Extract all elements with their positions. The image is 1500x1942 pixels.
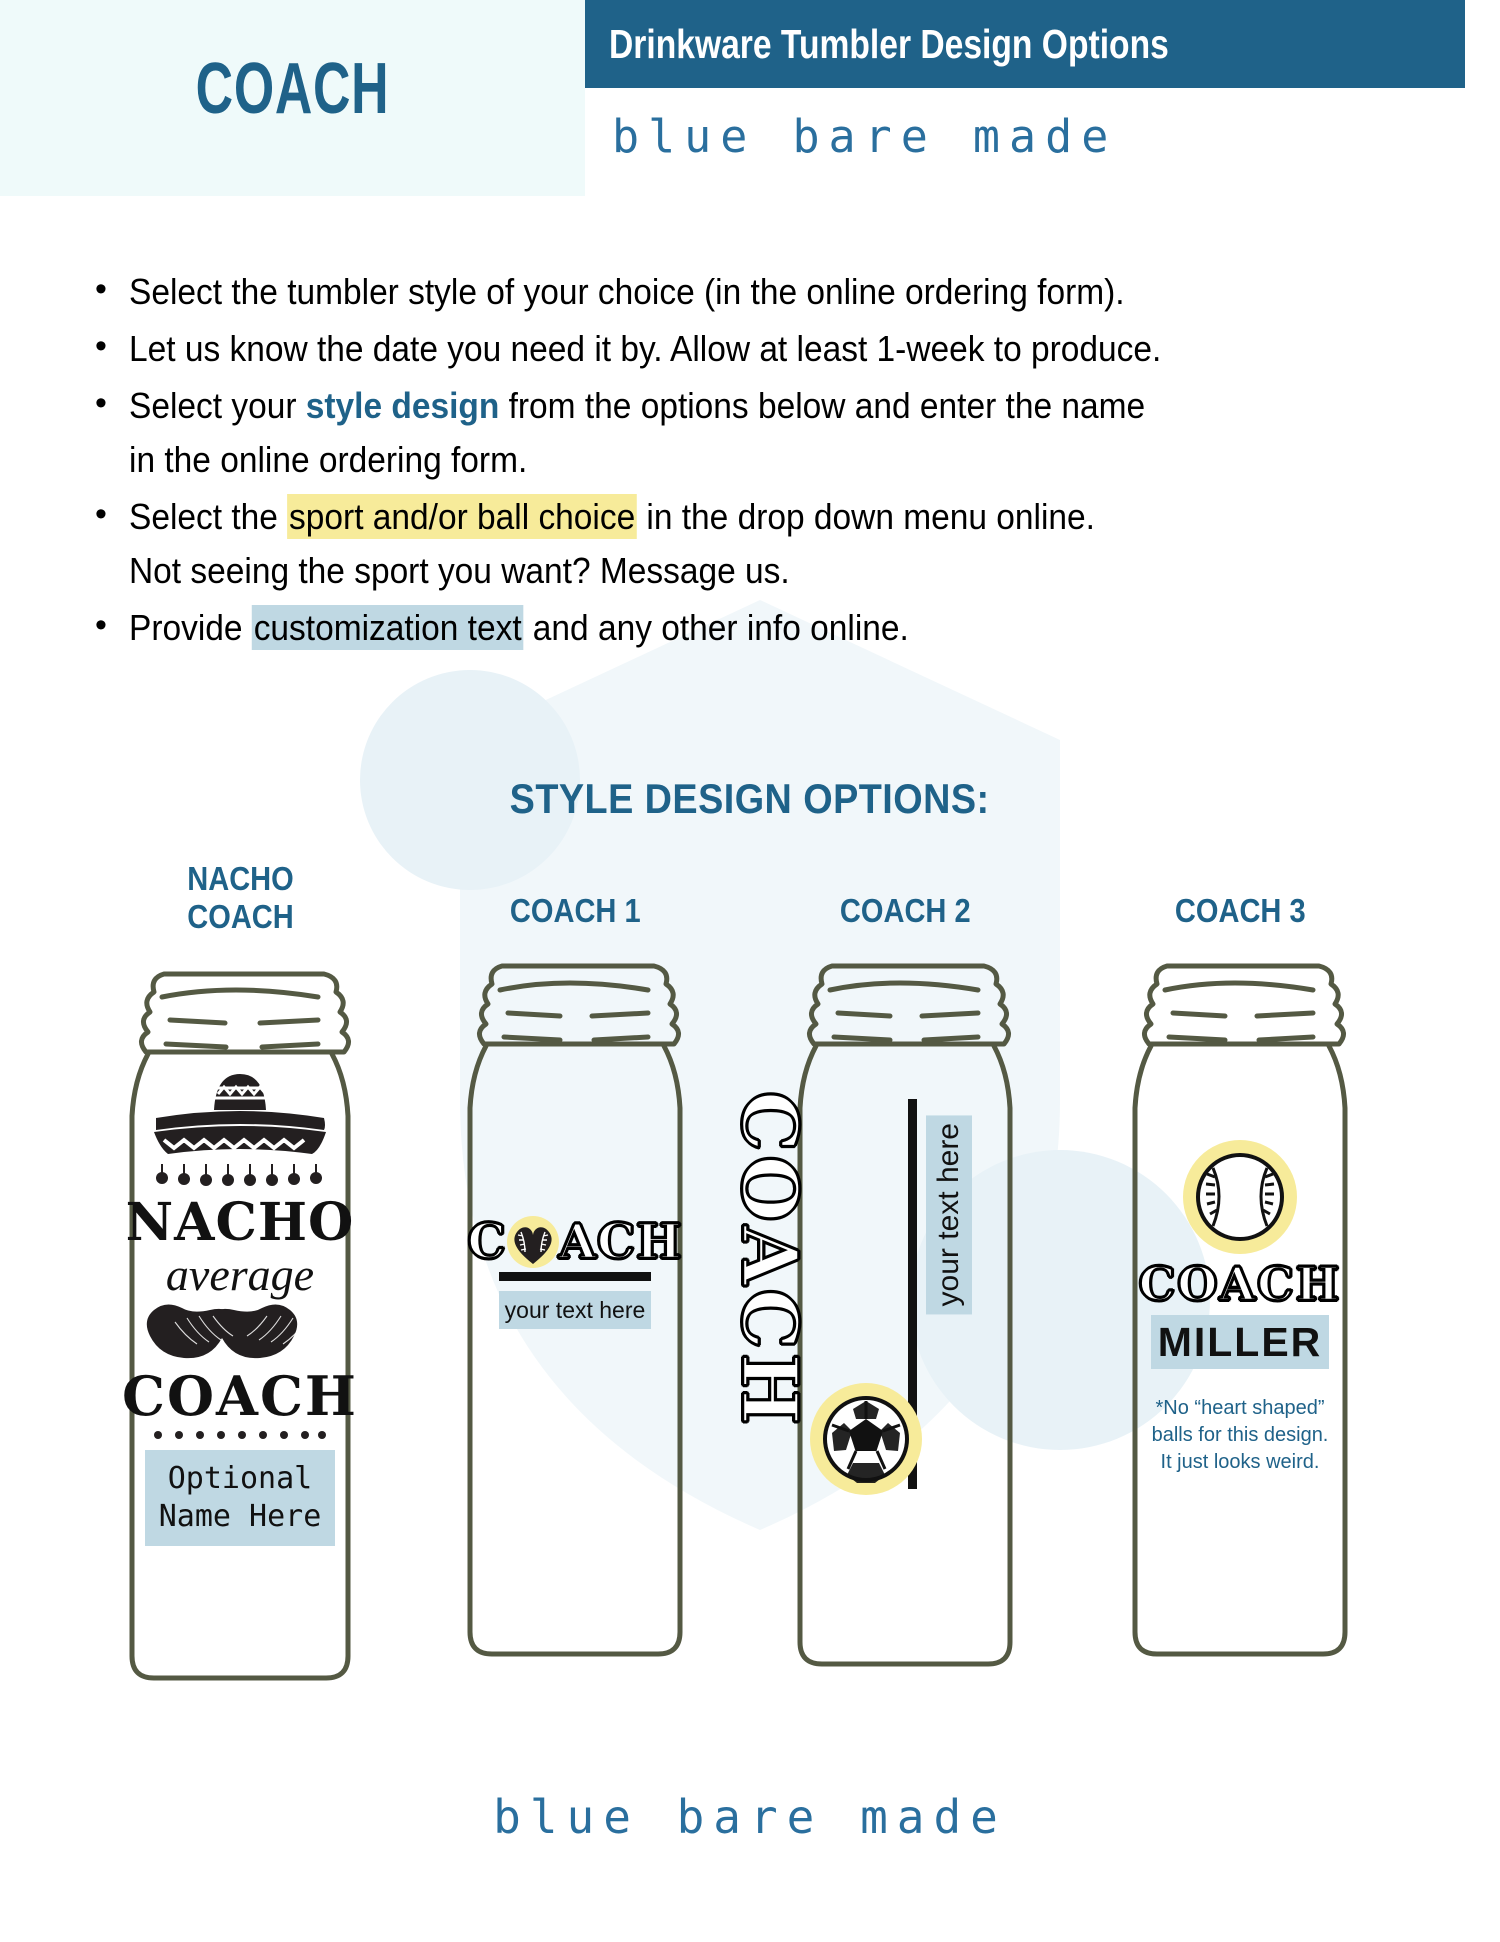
design-option-coach-3[interactable]: COACH 3 (1090, 860, 1390, 1676)
word-coach: COACH (122, 1366, 358, 1426)
bullet-text: Provide customization text and any other… (129, 601, 1334, 655)
design-note: *No “heart shaped” balls for this design… (1150, 1395, 1330, 1476)
dotted-rule (152, 1428, 328, 1442)
word-coach: COACH (1139, 1257, 1341, 1311)
footer-tagline: blue bare made (0, 1790, 1500, 1844)
design-label-line1: COACH 2 (840, 892, 971, 930)
design-option-nacho-coach[interactable]: NACHO COACH (90, 860, 390, 1702)
bullet-text-part: Select the (129, 496, 287, 537)
list-item: • Select the sport and/or ball choice in… (95, 490, 1425, 598)
brand-block: COACH (0, 0, 585, 196)
word-average: average (166, 1250, 314, 1300)
bullet-text-line2: in the online ordering form. (129, 433, 1334, 487)
your-text-here-box-vertical[interactable]: your text here (926, 1115, 972, 1314)
your-text-here-box[interactable]: your text here (499, 1291, 651, 1329)
highlight-sport-ball-choice: sport and/or ball choice (287, 494, 637, 539)
optional-name-line2: Name Here (151, 1498, 329, 1536)
banner: Drinkware Tumbler Design Options (585, 0, 1465, 88)
bullet-text-part: and any other info online. (524, 607, 909, 648)
bullet-dot-icon: • (95, 377, 129, 429)
list-item: • Select your style design from the opti… (95, 379, 1425, 487)
design-label: COACH 3 (1090, 860, 1390, 930)
soccer-ball-icon (808, 1381, 924, 1502)
design-label-line2: COACH (187, 898, 293, 936)
pompom-fringe-icon (152, 1164, 328, 1188)
tagline-top: blue bare made (612, 110, 1117, 163)
bullet-dot-icon: • (95, 488, 129, 540)
bullet-dot-icon: • (95, 599, 129, 651)
design-label: COACH 1 (425, 860, 725, 930)
instructions-list: • Select the tumbler style of your choic… (95, 265, 1425, 658)
bullet-text: Select your style design from the option… (129, 379, 1334, 433)
bullet-text-part: in the drop down menu online. (637, 496, 1095, 537)
design-label: COACH 2 (755, 860, 1055, 930)
bullet-text-line2: Not seeing the sport you want? Message u… (129, 544, 1334, 598)
list-item: • Let us know the date you need it by. A… (95, 322, 1425, 376)
banner-title: Drinkware Tumbler Design Options (609, 21, 1169, 68)
word-nacho: NACHO (126, 1194, 355, 1252)
logo-letter-c: C (468, 1214, 507, 1270)
bullet-dot-icon: • (95, 263, 129, 315)
logo-letters-ach: ACH (559, 1214, 683, 1270)
softball-heart-icon (505, 1214, 561, 1270)
design-label: NACHO COACH (90, 860, 390, 936)
bullet-text-part: Provide (129, 607, 252, 648)
bullet-text: Let us know the date you need it by. All… (129, 322, 1334, 376)
design-options-grid: NACHO COACH (0, 860, 1500, 1760)
logo-underline (499, 1272, 651, 1281)
name-box[interactable]: MILLER (1151, 1315, 1329, 1369)
optional-name-box[interactable]: Optional Name Here (145, 1450, 335, 1546)
bullet-text-part: Select your (129, 385, 306, 426)
list-item: • Provide customization text and any oth… (95, 601, 1425, 655)
bullet-text: Select the sport and/or ball choice in t… (129, 490, 1334, 544)
section-heading-label: STYLE DESIGN OPTIONS: (510, 775, 990, 823)
bullet-text: Select the tumbler style of your choice … (129, 265, 1334, 319)
mustache-icon (145, 1304, 335, 1364)
design-label-line1: COACH 3 (1175, 892, 1306, 930)
page-header: COACH Drinkware Tumbler Design Options b… (0, 0, 1500, 196)
softball-icon (1181, 1138, 1299, 1261)
design-option-coach-2[interactable]: COACH 2 COACH (755, 860, 1055, 1686)
design-option-coach-1[interactable]: COACH 1 C (425, 860, 725, 1676)
design-label-line1: NACHO (187, 860, 293, 898)
list-item: • Select the tumbler style of your choic… (95, 265, 1425, 319)
bullet-text-part: from the options below and enter the nam… (499, 385, 1145, 426)
coach-heart-logo: C ACH (468, 1214, 683, 1270)
brand-title: COACH (196, 48, 390, 130)
design-label-line1: COACH 1 (510, 892, 641, 930)
optional-name-line1: Optional (151, 1460, 329, 1498)
bullet-dot-icon: • (95, 320, 129, 372)
vertical-coach-word: COACH (728, 1091, 814, 1521)
highlight-customization-text: customization text (252, 605, 524, 650)
keyword-style-design: style design (306, 385, 500, 426)
sombrero-icon (150, 1070, 330, 1166)
section-heading: STYLE DESIGN OPTIONS: (0, 775, 1500, 823)
